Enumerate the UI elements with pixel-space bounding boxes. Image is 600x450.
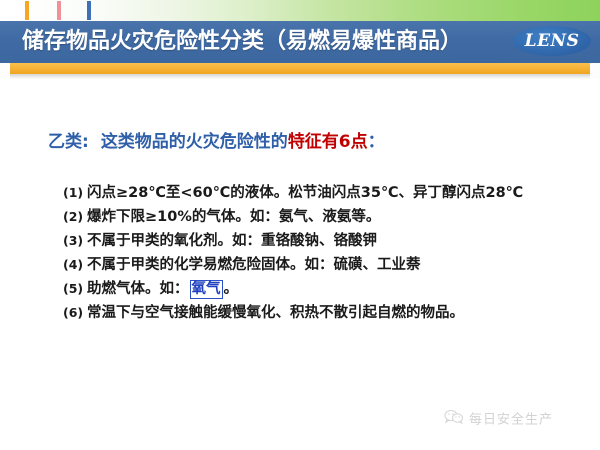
feature-list: (1)闪点≥28℃至<60℃的液体。松节油闪点35℃、异丁醇闪点28℃ (2)爆…	[63, 181, 583, 325]
list-item-number: (4)	[63, 253, 87, 277]
list-item: (4)不属于甲类的化学易燃危险固体。如：硫磺、工业萘	[63, 253, 583, 277]
list-item: (5)助燃气体。如：氧气。	[63, 277, 583, 301]
footer-watermark: 每日安全生产	[444, 409, 553, 431]
lead-text-before: 这类物品的火灾危险性的	[101, 132, 288, 152]
page-title: 储存物品火灾危险性分类（易燃易爆性商品）	[22, 22, 492, 62]
lead-text-after: ：	[368, 132, 385, 152]
gold-accent-bar	[10, 63, 590, 74]
accent-tick-blue-icon	[87, 1, 91, 20]
list-item-text: 助燃气体。如：	[87, 281, 189, 297]
list-item: (3)不属于甲类的氧化剂。如：重铬酸钠、铬酸钾	[63, 229, 583, 253]
lead-heading: 乙类:这类物品的火灾危险性的特征有6点：	[48, 127, 385, 152]
accent-tick-orange-icon	[25, 1, 29, 20]
list-item-text: 爆炸下限≥10%的气体。如：氨气、液氨等。	[87, 209, 380, 225]
list-item-number: (6)	[63, 301, 87, 325]
accent-tick-pink-icon	[57, 1, 61, 20]
list-item: (6)常温下与空气接触能缓慢氧化、积热不散引起自燃的物品。	[63, 301, 583, 325]
list-item-text: 常温下与空气接触能缓慢氧化、积热不散引起自燃的物品。	[87, 305, 464, 321]
wechat-icon	[444, 409, 464, 432]
list-item-text: 不属于甲类的化学易燃危险固体。如：硫磺、工业萘	[87, 257, 421, 273]
list-item: (1)闪点≥28℃至<60℃的液体。松节油闪点35℃、异丁醇闪点28℃	[63, 181, 583, 205]
lead-highlight: 特征有6点	[288, 132, 368, 152]
list-item: (2)爆炸下限≥10%的气体。如：氨气、液氨等。	[63, 205, 583, 229]
lead-category: 乙类:	[48, 132, 89, 152]
list-item-number: (5)	[63, 277, 87, 301]
list-item-text-tail: 。	[224, 281, 239, 297]
list-item-highlight-box: 氧气	[190, 280, 223, 299]
list-item-number: (1)	[63, 181, 87, 205]
lens-logo-label: LENS	[513, 26, 591, 56]
list-item-number: (3)	[63, 229, 87, 253]
top-decor-strip	[0, 0, 600, 21]
slide-canvas: 储存物品火灾危险性分类（易燃易爆性商品） LENS 乙类:这类物品的火灾危险性的…	[0, 0, 600, 450]
slide-body: 乙类:这类物品的火灾危险性的特征有6点： (1)闪点≥28℃至<60℃的液体。松…	[0, 79, 600, 450]
list-item-text: 闪点≥28℃至<60℃的液体。松节油闪点35℃、异丁醇闪点28℃	[87, 185, 523, 201]
watermark-label: 每日安全生产	[469, 413, 553, 428]
list-item-number: (2)	[63, 205, 87, 229]
list-item-text: 不属于甲类的氧化剂。如：重铬酸钠、铬酸钾	[87, 233, 377, 249]
